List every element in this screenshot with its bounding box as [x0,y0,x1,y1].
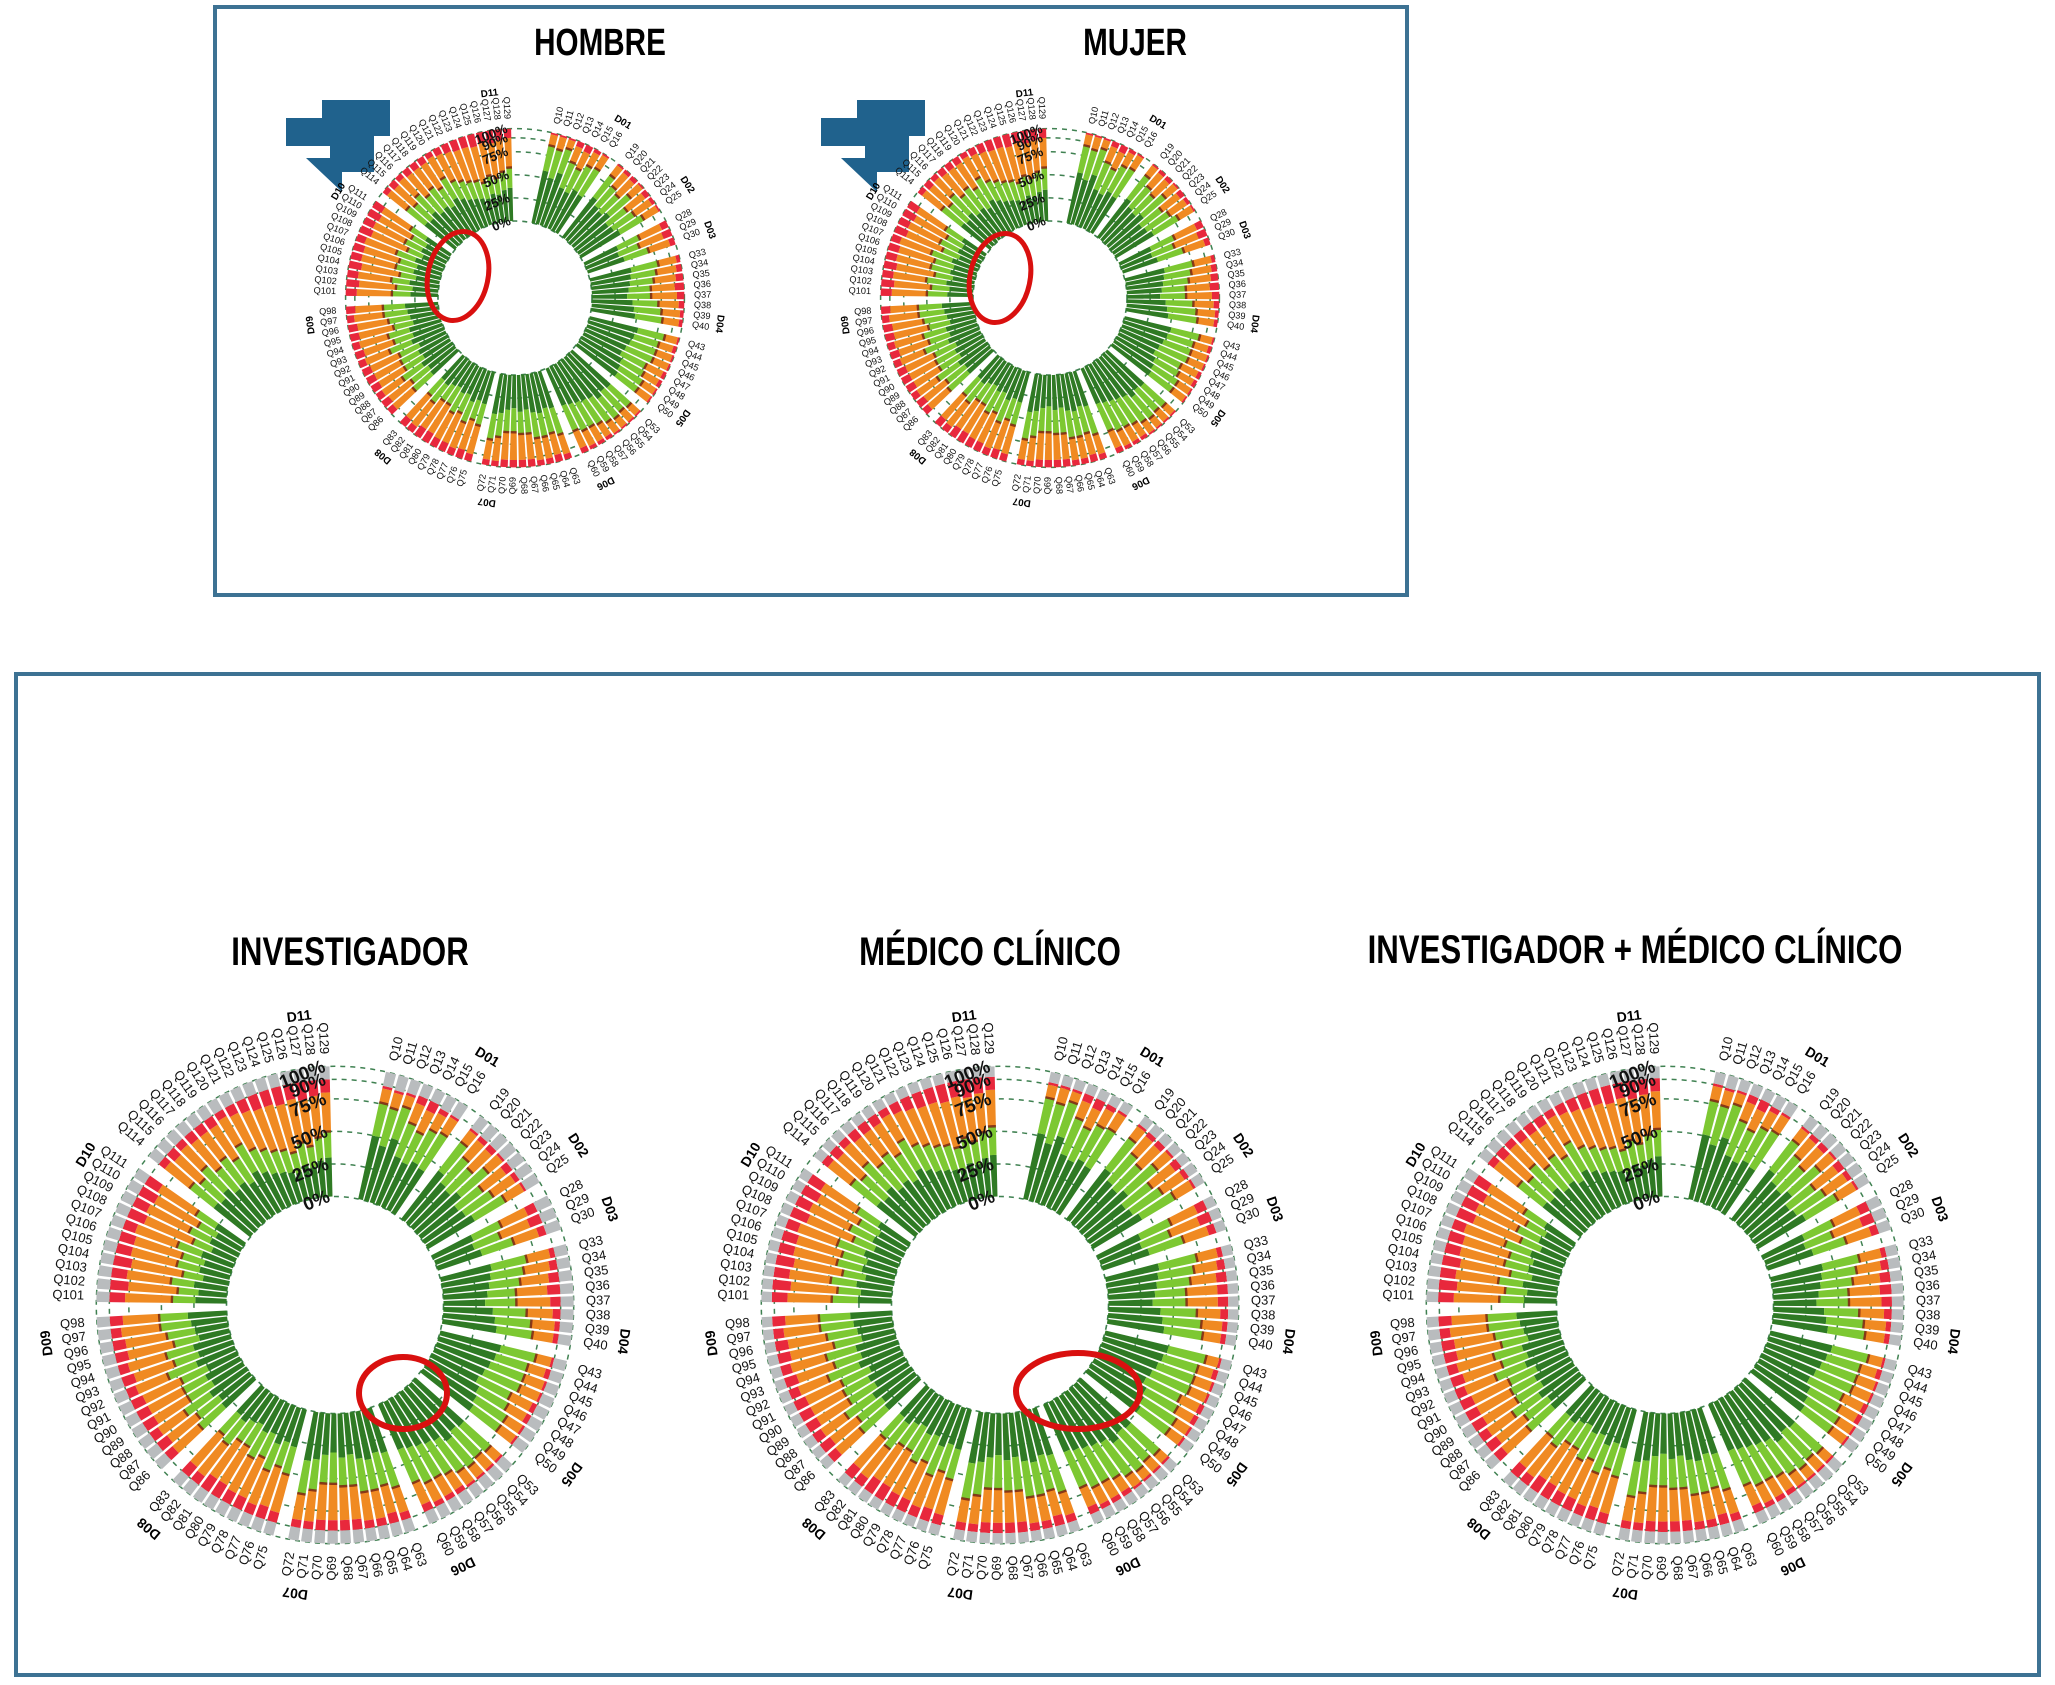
svg-text:Q98: Q98 [60,1315,86,1332]
svg-text:D03: D03 [1263,1194,1287,1224]
svg-text:D09: D09 [304,315,317,335]
svg-text:Q97: Q97 [726,1329,752,1347]
svg-text:Q129: Q129 [1036,96,1047,119]
svg-text:Q37: Q37 [1916,1292,1941,1307]
chart-title-investigador-medico: INVESTIGADOR + MÉDICO CLÍNICO [1327,928,1943,973]
svg-text:D04: D04 [1280,1328,1299,1356]
svg-text:Q70: Q70 [1032,476,1043,494]
svg-text:Q68: Q68 [340,1555,356,1580]
svg-text:Q101: Q101 [717,1287,749,1303]
svg-text:Q69: Q69 [324,1556,339,1581]
svg-text:D11: D11 [1015,87,1034,100]
svg-text:D11: D11 [951,1006,978,1025]
circos-chart-investigador-medico: Q10Q11Q12Q13Q14Q15Q16Q19Q20Q21Q22Q23Q24Q… [1355,995,1975,1615]
svg-text:D11: D11 [1616,1006,1643,1025]
svg-text:D09: D09 [839,315,852,335]
svg-text:Q37: Q37 [1251,1292,1276,1307]
svg-text:Q102: Q102 [849,274,872,286]
svg-text:Q69: Q69 [1042,477,1052,494]
svg-text:Q38: Q38 [694,300,712,311]
svg-text:D07: D07 [1012,495,1032,508]
svg-text:Q68: Q68 [1005,1555,1021,1580]
svg-text:D06: D06 [1778,1554,1808,1580]
svg-text:D02: D02 [1230,1130,1258,1160]
svg-text:Q98: Q98 [319,305,337,316]
svg-text:D08: D08 [1463,1515,1493,1544]
svg-text:Q128: Q128 [300,1023,318,1056]
svg-text:D11: D11 [286,1006,313,1025]
svg-text:D07: D07 [477,495,497,508]
svg-text:D02: D02 [1895,1130,1923,1160]
svg-text:Q101: Q101 [313,285,336,296]
chart-title-medico-clinico: MÉDICO CLÍNICO [772,930,1209,975]
svg-text:D06: D06 [594,474,616,492]
chart-title-hombre: HOMBRE [428,22,771,65]
svg-text:Q70: Q70 [308,1555,325,1581]
circos-chart-medico-clinico: Q10Q11Q12Q13Q14Q15Q16Q19Q20Q21Q22Q23Q24Q… [690,995,1310,1615]
svg-text:D03: D03 [701,220,718,241]
svg-text:Q36: Q36 [1250,1277,1276,1294]
svg-text:Q40: Q40 [1226,319,1245,332]
chart-title-investigador: INVESTIGADOR [108,930,592,975]
svg-text:D06: D06 [448,1554,478,1580]
svg-text:Q69: Q69 [1654,1556,1669,1581]
svg-text:Q40: Q40 [582,1334,609,1353]
svg-text:Q36: Q36 [585,1277,611,1294]
svg-text:D08: D08 [133,1515,163,1544]
svg-text:D07: D07 [946,1584,974,1603]
svg-text:D01: D01 [1137,1043,1167,1070]
svg-text:Q38: Q38 [1229,300,1247,311]
svg-text:Q40: Q40 [1247,1334,1274,1353]
svg-text:D05: D05 [1888,1460,1916,1490]
svg-text:Q40: Q40 [691,319,710,332]
svg-text:Q97: Q97 [61,1329,87,1347]
svg-text:D01: D01 [472,1043,502,1070]
svg-text:D09: D09 [1366,1329,1385,1357]
svg-text:D09: D09 [701,1329,720,1357]
chart-title-mujer: MUJER [963,22,1306,65]
svg-text:D06: D06 [1113,1554,1143,1580]
svg-text:D06: D06 [1129,474,1151,492]
svg-text:Q98: Q98 [1390,1315,1416,1332]
svg-text:Q129: Q129 [501,96,512,119]
svg-text:D04: D04 [1248,314,1261,334]
svg-text:D04: D04 [1945,1328,1964,1356]
svg-text:Q37: Q37 [586,1292,611,1307]
svg-text:Q98: Q98 [725,1315,751,1332]
svg-text:Q69: Q69 [507,477,517,494]
svg-text:D04: D04 [615,1328,634,1356]
svg-text:D03: D03 [1236,220,1253,241]
svg-text:D01: D01 [1802,1043,1832,1070]
svg-text:D07: D07 [281,1584,309,1603]
svg-text:Q129: Q129 [1646,1022,1662,1054]
svg-text:Q37: Q37 [694,290,712,300]
svg-text:Q97: Q97 [1391,1329,1417,1347]
svg-text:Q70: Q70 [973,1555,990,1581]
svg-text:Q68: Q68 [1670,1555,1686,1580]
svg-text:Q129: Q129 [316,1022,332,1054]
svg-text:D11: D11 [480,87,499,100]
svg-text:Q37: Q37 [1229,290,1247,300]
svg-text:D09: D09 [36,1329,55,1357]
svg-text:D08: D08 [798,1515,828,1544]
svg-text:Q36: Q36 [693,279,711,290]
svg-text:D05: D05 [1223,1460,1251,1490]
svg-text:Q70: Q70 [1638,1555,1655,1581]
svg-text:Q129: Q129 [981,1022,997,1054]
svg-text:Q101: Q101 [52,1287,84,1303]
svg-text:Q102: Q102 [314,274,337,286]
svg-text:Q71: Q71 [486,475,498,493]
svg-text:Q69: Q69 [989,1556,1004,1581]
svg-text:Q98: Q98 [854,305,872,316]
circos-chart-investigador: Q10Q11Q12Q13Q14Q15Q16Q19Q20Q21Q22Q23Q24Q… [25,995,645,1615]
svg-text:Q40: Q40 [1912,1334,1939,1353]
svg-text:Q68: Q68 [519,477,530,495]
svg-text:Q67: Q67 [1064,476,1076,494]
svg-text:Q128: Q128 [965,1023,983,1056]
svg-text:Q101: Q101 [1382,1287,1414,1303]
svg-text:Q36: Q36 [1915,1277,1941,1294]
svg-text:Q128: Q128 [1630,1023,1648,1056]
svg-text:Q36: Q36 [1228,279,1246,290]
svg-text:D05: D05 [558,1460,586,1490]
svg-text:Q101: Q101 [848,285,871,296]
svg-text:D03: D03 [598,1194,622,1224]
svg-text:Q71: Q71 [1021,475,1033,493]
circos-chart-mujer: Q10Q11Q12Q13Q14Q15Q16Q19Q20Q21Q22Q23Q24Q… [830,78,1270,518]
circos-chart-hombre: Q10Q11Q12Q13Q14Q15Q16Q19Q20Q21Q22Q23Q24Q… [295,78,735,518]
svg-text:D03: D03 [1928,1194,1952,1224]
svg-text:Q68: Q68 [1054,477,1065,495]
svg-text:D04: D04 [713,314,726,334]
svg-text:D07: D07 [1611,1584,1639,1603]
svg-text:Q67: Q67 [529,476,541,494]
svg-text:D02: D02 [565,1130,593,1160]
svg-text:Q70: Q70 [497,476,508,494]
